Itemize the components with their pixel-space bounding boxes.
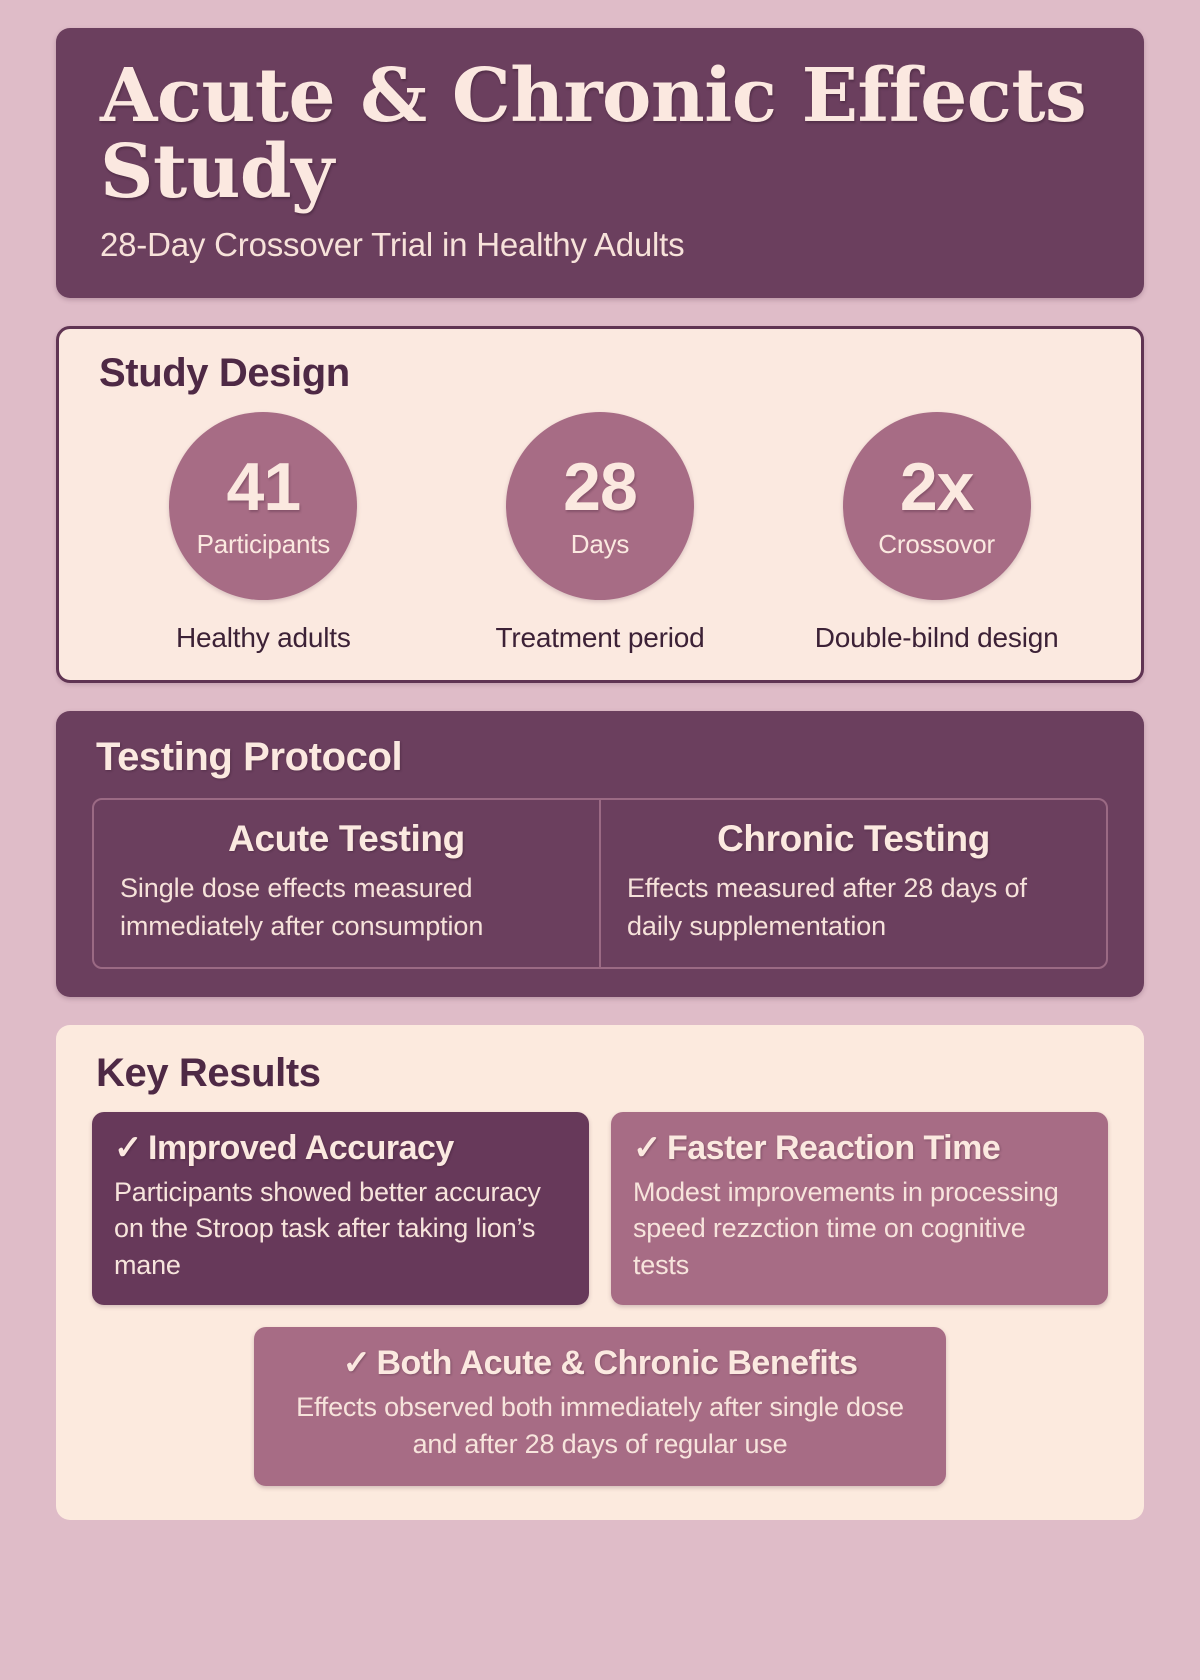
key-results-row: ✓Improved Accuracy Participants showed b… — [92, 1112, 1108, 1305]
result-body: Participants showed better accuracy on t… — [114, 1174, 567, 1283]
result-body: Modest improvements in processing speed … — [633, 1174, 1086, 1283]
result-heading-label: Faster Reaction Time — [667, 1129, 1000, 1167]
stat-circle: 41 Participants — [169, 412, 357, 600]
check-icon: ✓ — [342, 1344, 370, 1382]
stat-value: 41 — [227, 453, 301, 521]
protocol-body: Effects measured after 28 days of daily … — [627, 870, 1080, 945]
stat-unit: Crossovor — [878, 529, 995, 560]
result-card-both-acute-chronic: ✓Both Acute & Chronic Benefits Effects o… — [254, 1327, 946, 1486]
result-body: Effects observed both immediately after … — [280, 1389, 920, 1462]
result-heading: ✓Faster Reaction Time — [633, 1128, 1086, 1168]
stat-participants: 41 Participants Healthy adults — [107, 412, 420, 654]
stat-value: 2x — [900, 453, 974, 521]
result-heading-label: Improved Accuracy — [148, 1129, 454, 1167]
testing-protocol-title: Testing Protocol — [96, 735, 1108, 780]
key-results-title: Key Results — [96, 1051, 1108, 1096]
stat-caption: Healthy adults — [176, 622, 351, 654]
stat-caption: Treatment period — [495, 622, 704, 654]
stat-circle: 28 Days — [506, 412, 694, 600]
check-icon: ✓ — [633, 1129, 661, 1167]
stat-value: 28 — [563, 453, 637, 521]
protocol-heading: Chronic Testing — [627, 818, 1080, 860]
testing-protocol-grid: Acute Testing Single dose effects measur… — [92, 798, 1108, 969]
protocol-column-chronic: Chronic Testing Effects measured after 2… — [599, 800, 1106, 967]
protocol-heading: Acute Testing — [120, 818, 573, 860]
result-heading: ✓Improved Accuracy — [114, 1128, 567, 1168]
stat-crossover: 2x Crossovor Double-bilnd design — [780, 412, 1093, 654]
result-card-faster-reaction-time: ✓Faster Reaction Time Modest improvement… — [611, 1112, 1108, 1305]
study-design-title: Study Design — [99, 351, 1105, 396]
study-design-section: Study Design 41 Participants Healthy adu… — [56, 326, 1144, 683]
testing-protocol-section: Testing Protocol Acute Testing Single do… — [56, 711, 1144, 997]
protocol-column-acute: Acute Testing Single dose effects measur… — [94, 800, 599, 967]
result-card-improved-accuracy: ✓Improved Accuracy Participants showed b… — [92, 1112, 589, 1305]
stat-caption: Double-bilnd design — [815, 622, 1059, 654]
result-heading: ✓Both Acute & Chronic Benefits — [280, 1343, 920, 1383]
header-banner: Acute & Chronic Effects Study 28-Day Cro… — [56, 28, 1144, 298]
protocol-body: Single dose effects measured immediately… — [120, 870, 573, 945]
key-results-section: Key Results ✓Improved Accuracy Participa… — [56, 1025, 1144, 1520]
stat-circle: 2x Crossovor — [843, 412, 1031, 600]
stat-unit: Days — [571, 529, 629, 560]
page-subtitle: 28-Day Crossover Trial in Healthy Adults — [100, 226, 1100, 264]
study-design-stats: 41 Participants Healthy adults 28 Days T… — [95, 412, 1105, 654]
stat-unit: Participants — [197, 529, 330, 560]
stat-days: 28 Days Treatment period — [443, 412, 756, 654]
page-title: Acute & Chronic Effects Study — [100, 58, 1100, 210]
infographic-page: Acute & Chronic Effects Study 28-Day Cro… — [0, 0, 1200, 1680]
result-heading-label: Both Acute & Chronic Benefits — [376, 1344, 857, 1382]
check-icon: ✓ — [114, 1129, 142, 1167]
